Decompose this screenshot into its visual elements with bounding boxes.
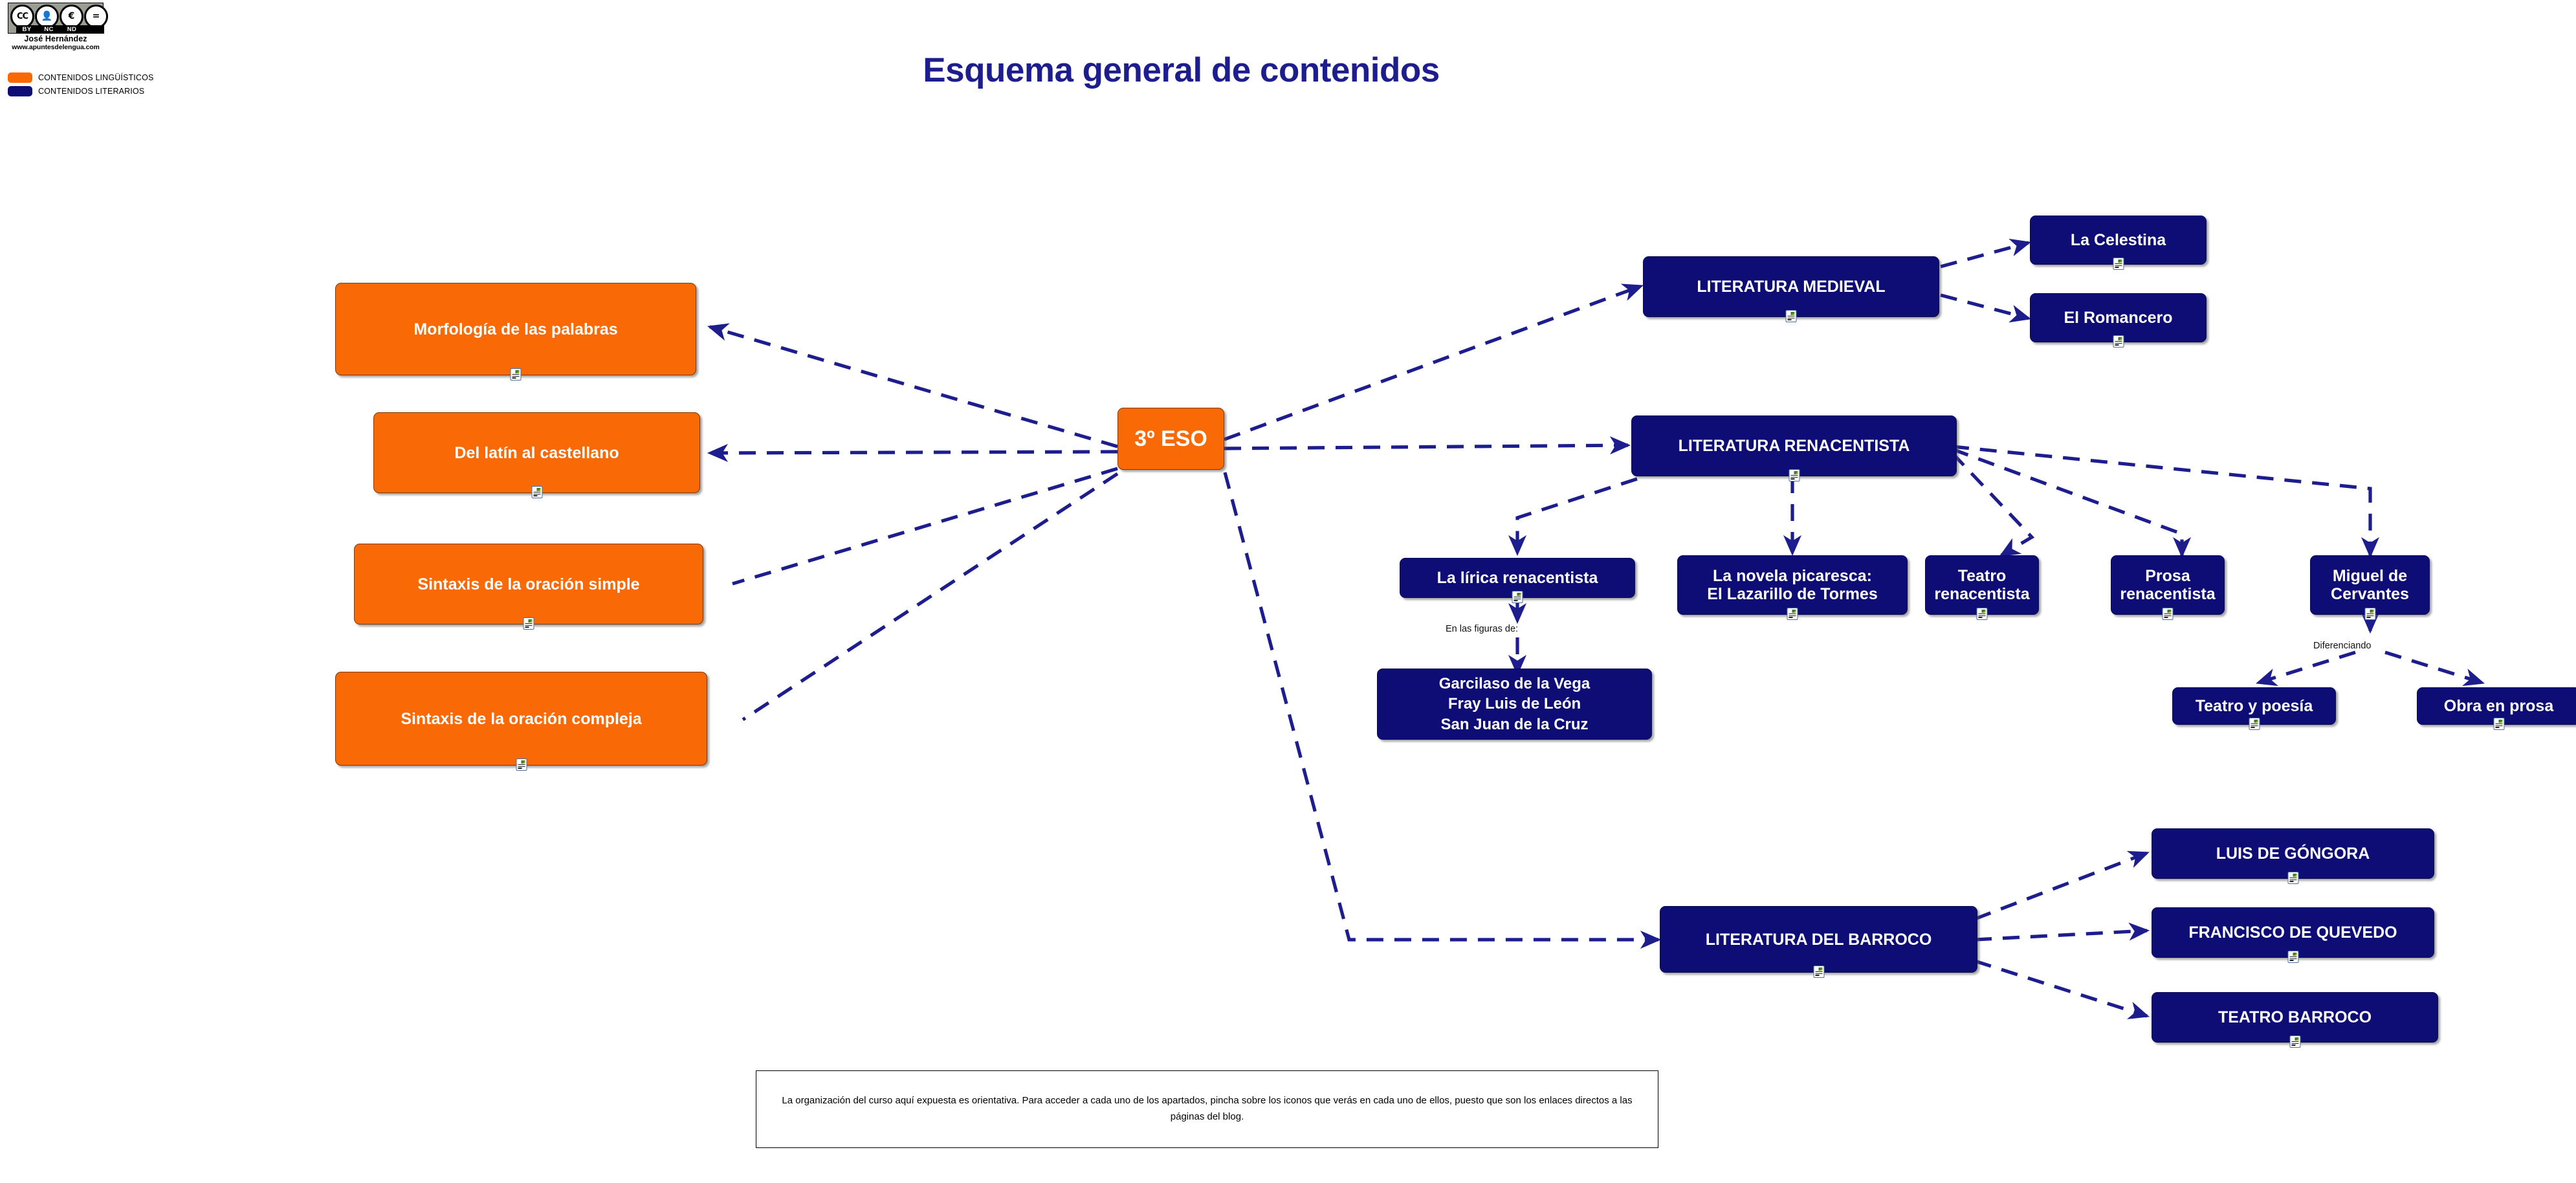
doc-thumb: [1517, 593, 1521, 596]
node-novela-picaresca[interactable]: La novela picaresca: El Lazarillo de Tor…: [1677, 555, 1908, 615]
edge-barroco-quevedo: [1975, 931, 2147, 940]
doc-line: [1788, 316, 1795, 316]
footnote-box: La organización del curso aquí expuesta …: [756, 1070, 1658, 1148]
doc-line: [518, 764, 525, 765]
node-teatro-y-poesia[interactable]: Teatro y poesía: [2172, 687, 2336, 725]
node-la-celestina-label: La Celestina: [2065, 231, 2171, 249]
doc-line: [2289, 958, 2296, 959]
footnote-line-1: La organización del curso aquí expuesta …: [782, 1095, 1266, 1106]
doc-line: [2251, 724, 2258, 724]
doc-line: [1514, 597, 1521, 597]
document-link-icon[interactable]: [2289, 1035, 2300, 1048]
doc-line: [2251, 727, 2254, 727]
doc-line: [2115, 267, 2119, 267]
node-del-latin-al-castellano[interactable]: Del latín al castellano: [373, 412, 700, 493]
doc-line: [1815, 975, 1819, 975]
edge-root-sintaxis-simple: [732, 469, 1117, 584]
edge-cervantes-obra-prosa: [2385, 652, 2482, 683]
doc-thumb: [2118, 260, 2122, 263]
node-renacentista-label: LITERATURA RENACENTISTA: [1673, 437, 1915, 455]
footnote-text: La organización del curso aquí expuesta …: [773, 1093, 1641, 1125]
node-sintaxis-compleja-label: Sintaxis de la oración compleja: [395, 710, 646, 728]
doc-thumb: [2295, 1037, 2298, 1041]
node-cervantes-label: Miguel de Cervantes: [2326, 567, 2414, 603]
node-miguel-de-cervantes[interactable]: Miguel de Cervantes: [2310, 555, 2430, 615]
doc-thumb: [536, 488, 540, 491]
doc-line: [1979, 615, 1986, 616]
doc-line: [2495, 724, 2502, 724]
doc-line: [2366, 617, 2370, 617]
doc-line: [2115, 265, 2122, 266]
node-teatro-renacentista[interactable]: Teatro renacentista: [1925, 555, 2039, 615]
doc-line: [2164, 614, 2172, 614]
node-lirica-authors-label: Garcilaso de la Vega Fray Luis de León S…: [1434, 674, 1595, 735]
node-literatura-renacentista[interactable]: LITERATURA RENACENTISTA: [1631, 415, 1957, 476]
doc-line: [512, 377, 516, 378]
node-el-romancero-label: El Romancero: [2058, 309, 2177, 327]
node-lirica-label: La lírica renacentista: [1432, 569, 1603, 587]
edge-renacentista-cervantes: [1952, 447, 2370, 555]
doc-line: [1790, 475, 1798, 476]
doc-line: [1815, 971, 1822, 972]
edge-label-diferenciando: Diferenciando: [2313, 641, 2371, 651]
edge-barroco-teatro: [1975, 961, 2147, 1016]
edge-root-morfologia: [710, 327, 1117, 447]
doc-line: [2115, 341, 2122, 342]
doc-line: [1815, 973, 1822, 974]
doc-line: [2289, 881, 2293, 881]
doc-line: [525, 623, 533, 624]
doc-line: [1790, 477, 1798, 478]
doc-line: [2289, 878, 2296, 878]
document-link-icon[interactable]: [2113, 258, 2124, 270]
doc-thumb: [521, 760, 525, 764]
document-link-icon[interactable]: [2364, 608, 2375, 620]
doc-line: [2495, 725, 2502, 726]
doc-line: [2115, 343, 2122, 344]
node-teatro-barroco[interactable]: TEATRO BARROCO: [2152, 992, 2438, 1043]
doc-thumb: [2498, 720, 2502, 723]
node-root[interactable]: 3º ESO: [1117, 408, 1224, 470]
document-link-icon[interactable]: [2287, 951, 2298, 963]
doc-thumb: [2118, 337, 2122, 340]
document-link-icon[interactable]: [2493, 718, 2504, 730]
edge-root-sintaxis-compleja: [743, 474, 1117, 720]
edge-root-medieval: [1224, 286, 1641, 439]
node-teatro-poesia-label: Teatro y poesía: [2190, 697, 2318, 715]
document-link-icon[interactable]: [531, 486, 542, 498]
node-medieval-label: LITERATURA MEDIEVAL: [1691, 278, 1890, 296]
doc-line: [1788, 319, 1792, 320]
doc-line: [1514, 599, 1521, 599]
node-prosa-renacentista-label: Prosa renacentista: [2115, 567, 2220, 603]
doc-line: [533, 492, 540, 492]
doc-line: [2115, 344, 2119, 345]
document-link-icon[interactable]: [511, 368, 522, 381]
node-latin-label: Del latín al castellano: [449, 444, 624, 462]
doc-thumb: [1791, 312, 1795, 315]
edge-renacentista-lirica: [1517, 479, 1637, 553]
node-sintaxis-oracion-simple[interactable]: Sintaxis de la oración simple: [354, 544, 703, 625]
doc-line: [2291, 1041, 2298, 1042]
doc-line: [1979, 617, 1983, 617]
edge-root-renacentista: [1224, 445, 1628, 448]
doc-line: [1514, 600, 1518, 601]
document-link-icon[interactable]: [1786, 310, 1797, 322]
doc-line: [518, 766, 525, 767]
node-root-label: 3º ESO: [1129, 426, 1213, 451]
node-el-romancero[interactable]: El Romancero: [2030, 293, 2207, 342]
doc-line: [525, 626, 529, 627]
node-teatro-renacentista-label: Teatro renacentista: [1929, 567, 2034, 603]
document-link-icon[interactable]: [2163, 608, 2174, 620]
node-teatro-barroco-label: TEATRO BARROCO: [2213, 1008, 2377, 1026]
edge-barroco-gongora: [1975, 853, 2147, 919]
doc-line: [1979, 614, 1986, 614]
doc-line: [2251, 725, 2258, 726]
document-link-icon[interactable]: [1813, 966, 1824, 978]
document-link-icon[interactable]: [1789, 469, 1800, 481]
node-sintaxis-simple-label: Sintaxis de la oración simple: [412, 575, 644, 593]
doc-line: [2289, 879, 2296, 880]
doc-thumb: [529, 619, 533, 623]
node-luis-de-gongora[interactable]: LUIS DE GÓNGORA: [2152, 828, 2434, 879]
edge-renacentista-teatro: [1952, 453, 2032, 555]
node-literatura-medieval[interactable]: LITERATURA MEDIEVAL: [1643, 256, 1939, 317]
node-lirica-authors[interactable]: Garcilaso de la Vega Fray Luis de León S…: [1377, 669, 1652, 740]
node-francisco-de-quevedo[interactable]: FRANCISCO DE QUEVEDO: [2152, 907, 2434, 958]
edge-cervantes-teatro-poesia: [2258, 652, 2355, 683]
edge-label-en-las-figuras-de: En las figuras de:: [1446, 624, 1518, 634]
node-quevedo-label: FRANCISCO DE QUEVEDO: [2183, 923, 2402, 942]
node-literatura-del-barroco[interactable]: LITERATURA DEL BARROCO: [1660, 906, 1977, 973]
doc-line: [533, 494, 540, 494]
doc-thumb: [2293, 953, 2296, 956]
document-link-icon[interactable]: [523, 617, 534, 630]
doc-line: [2366, 615, 2373, 616]
doc-line: [1789, 615, 1796, 616]
document-link-icon[interactable]: [2287, 872, 2298, 884]
doc-line: [2291, 1043, 2298, 1044]
doc-thumb: [1794, 471, 1798, 474]
doc-line: [1789, 614, 1796, 614]
diagram-canvas: CC 👤 € = BY NC ND José Hernández www.apu…: [0, 0, 2576, 1183]
doc-thumb: [1982, 610, 1986, 613]
doc-thumb: [2293, 874, 2296, 877]
node-la-celestina[interactable]: La Celestina: [2030, 216, 2207, 265]
doc-thumb: [2370, 610, 2373, 613]
doc-line: [2164, 617, 2168, 617]
edge-root-latin: [710, 452, 1117, 453]
doc-line: [2495, 727, 2499, 727]
doc-thumb: [1818, 967, 1822, 971]
document-link-icon[interactable]: [1512, 591, 1523, 603]
doc-line: [2366, 614, 2373, 614]
node-barroco-label: LITERATURA DEL BARROCO: [1701, 931, 1937, 949]
document-link-icon[interactable]: [2249, 718, 2260, 730]
doc-line: [533, 495, 537, 496]
node-picaresca-label: La novela picaresca: El Lazarillo de Tor…: [1702, 567, 1883, 603]
document-link-icon[interactable]: [1787, 608, 1798, 620]
doc-thumb: [1792, 610, 1796, 613]
document-link-icon[interactable]: [1977, 608, 1988, 620]
document-link-icon[interactable]: [2113, 335, 2124, 348]
edge-medieval-celestina: [1941, 243, 2029, 267]
doc-line: [2164, 615, 2172, 616]
node-la-lirica-renacentista[interactable]: La lírica renacentista: [1400, 558, 1635, 598]
doc-line: [512, 376, 520, 377]
node-gongora-label: LUIS DE GÓNGORA: [2211, 845, 2375, 863]
node-obra-prosa-label: Obra en prosa: [2439, 697, 2559, 715]
node-sintaxis-oracion-compleja[interactable]: Sintaxis de la oración compleja: [335, 672, 707, 766]
edge-medieval-romancero: [1941, 295, 2029, 318]
doc-line: [2115, 263, 2122, 264]
node-prosa-renacentista[interactable]: Prosa renacentista: [2111, 555, 2225, 615]
node-morfologia-de-las-palabras[interactable]: Morfología de las palabras: [335, 283, 696, 375]
doc-thumb: [2168, 610, 2172, 613]
node-obra-en-prosa[interactable]: Obra en prosa: [2417, 687, 2576, 725]
doc-thumb: [516, 370, 520, 373]
doc-line: [1788, 318, 1795, 318]
doc-line: [512, 374, 520, 375]
node-morfologia-label: Morfología de las palabras: [408, 320, 622, 338]
doc-thumb: [2254, 720, 2258, 723]
doc-line: [2291, 1045, 2295, 1045]
document-link-icon[interactable]: [516, 758, 527, 771]
doc-line: [2289, 956, 2296, 957]
doc-line: [1790, 478, 1794, 479]
doc-line: [518, 768, 522, 768]
doc-line: [2289, 960, 2293, 960]
doc-line: [1789, 617, 1793, 617]
doc-line: [525, 625, 533, 626]
